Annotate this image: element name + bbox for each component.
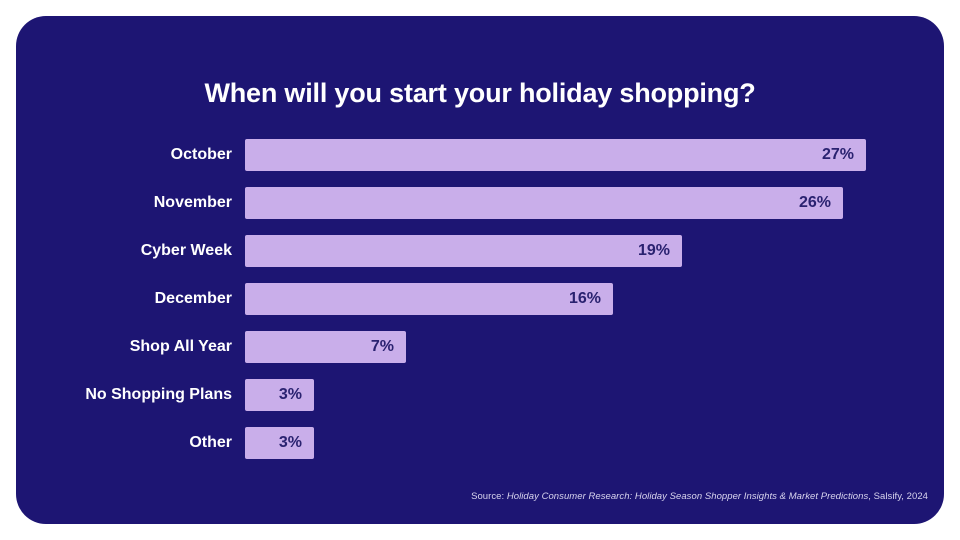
chart-title: When will you start your holiday shoppin…: [16, 78, 944, 109]
bar-category-label: Cyber Week: [28, 235, 232, 267]
bar-row: Other 3%: [28, 427, 944, 459]
bar-category-label: October: [28, 139, 232, 171]
bar-value-label: 27%: [822, 146, 866, 164]
bar-value-label: 26%: [799, 194, 843, 212]
bar-category-label: December: [28, 283, 232, 315]
bar-row: Shop All Year 7%: [28, 331, 944, 363]
bar-row: November 26%: [28, 187, 944, 219]
bar-category-label: Other: [28, 427, 232, 459]
bar-row: Cyber Week 19%: [28, 235, 944, 267]
bar: 27%: [245, 139, 866, 171]
screenshot-canvas: When will you start your holiday shoppin…: [0, 0, 960, 540]
bar-row: October 27%: [28, 139, 944, 171]
bar-row: No Shopping Plans 3%: [28, 379, 944, 411]
bar-value-label: 16%: [569, 290, 613, 308]
bar-chart-plot: October 27% November 26% Cyber Week: [28, 139, 944, 479]
bar-track: 27%: [245, 139, 944, 171]
source-suffix: , Salsify, 2024: [868, 491, 928, 502]
bar-category-label: No Shopping Plans: [28, 379, 232, 411]
bar-category-label: November: [28, 187, 232, 219]
source-prefix: Source:: [471, 491, 507, 502]
bar-track: 3%: [245, 379, 944, 411]
chart-card: When will you start your holiday shoppin…: [16, 16, 944, 524]
bar: 3%: [245, 379, 314, 411]
source-report-title: Holiday Consumer Research: Holiday Seaso…: [507, 491, 868, 502]
bar-row: December 16%: [28, 283, 944, 315]
bar: 16%: [245, 283, 613, 315]
bar-track: 7%: [245, 331, 944, 363]
bar-track: 16%: [245, 283, 944, 315]
bar-value-label: 7%: [371, 338, 406, 356]
bar: 7%: [245, 331, 406, 363]
source-citation: Source: Holiday Consumer Research: Holid…: [471, 491, 928, 502]
bar: 26%: [245, 187, 843, 219]
bar-track: 19%: [245, 235, 944, 267]
bar-value-label: 19%: [638, 242, 682, 260]
bar-value-label: 3%: [279, 434, 314, 452]
bar: 19%: [245, 235, 682, 267]
bar-value-label: 3%: [279, 386, 314, 404]
bar: 3%: [245, 427, 314, 459]
bar-category-label: Shop All Year: [28, 331, 232, 363]
bar-track: 26%: [245, 187, 944, 219]
bar-track: 3%: [245, 427, 944, 459]
